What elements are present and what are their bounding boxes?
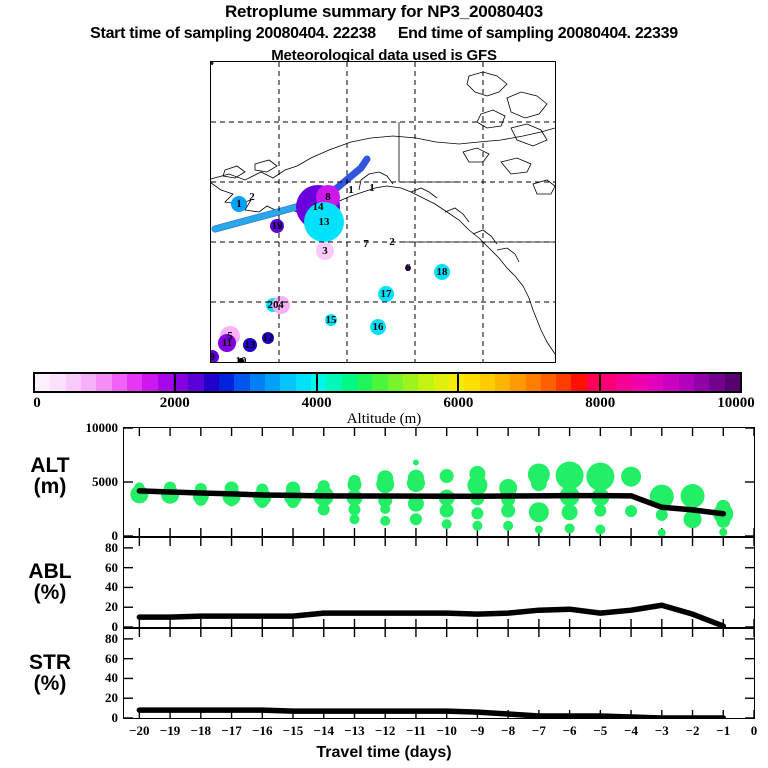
colorbar-segment xyxy=(35,374,50,391)
abl-plot-panel xyxy=(123,537,755,628)
colorbar-segment xyxy=(602,374,617,391)
y-tick-label: 20 xyxy=(58,599,118,615)
colorbar-segment xyxy=(234,374,249,391)
scatter-point xyxy=(501,504,515,518)
x-tick-label: −18 xyxy=(191,723,211,739)
plume-centroid-marker xyxy=(243,338,257,352)
colorbar-segment xyxy=(112,374,127,391)
colorbar-divider xyxy=(316,372,318,393)
colorbar-segment xyxy=(388,374,403,391)
scatter-point xyxy=(407,474,425,492)
plume-centroid-marker xyxy=(378,286,394,302)
xaxis-title: Travel time (days) xyxy=(0,744,768,762)
y-tick-label: 10000 xyxy=(58,420,118,436)
plume-centroid-marker xyxy=(231,196,247,212)
x-tick-label: −5 xyxy=(593,723,607,739)
plume-trajectory xyxy=(215,159,367,229)
colorbar-segment xyxy=(188,374,203,391)
scatter-point xyxy=(681,484,705,508)
scatter-point xyxy=(440,469,454,483)
plume-centroid-marker xyxy=(370,319,386,335)
abl-plot-graphic xyxy=(124,538,754,627)
y-tick-label: 80 xyxy=(58,631,118,647)
plume-centroid-markers xyxy=(211,185,450,362)
scatter-point xyxy=(376,475,394,493)
colorbar-segment xyxy=(709,374,724,391)
colorbar-segment xyxy=(556,374,571,391)
scatter-point xyxy=(556,462,584,490)
scatter-point xyxy=(227,496,237,506)
scatter-point xyxy=(472,521,482,531)
colorbar-segment xyxy=(342,374,357,391)
scatter-point xyxy=(621,467,641,487)
y-tick-label: 80 xyxy=(58,540,118,556)
scatter-point xyxy=(658,529,666,536)
plume-centroid-marker xyxy=(304,202,344,242)
colorbar-segment xyxy=(219,374,234,391)
y-tick-label: 40 xyxy=(58,579,118,595)
scatter-point xyxy=(442,519,452,529)
colorbar-gradient xyxy=(33,372,742,393)
colorbar-segment xyxy=(326,374,341,391)
scatter-point xyxy=(586,463,614,491)
x-tick-label: −11 xyxy=(406,723,426,739)
x-tick-label: −3 xyxy=(655,723,669,739)
colorbar-segment xyxy=(158,374,173,391)
colorbar-segment xyxy=(50,374,65,391)
colorbar-segment xyxy=(526,374,541,391)
scatter-point xyxy=(347,478,361,492)
colorbar-segment xyxy=(403,374,418,391)
scatter-point xyxy=(380,504,390,514)
page-title: Retroplume summary for NP3_20080403 xyxy=(0,2,768,22)
x-tick-label: −17 xyxy=(221,723,241,739)
colorbar-segment xyxy=(127,374,142,391)
plume-centroid-marker xyxy=(325,314,337,326)
colorbar-segment xyxy=(725,374,740,391)
colorbar-segment xyxy=(679,374,694,391)
colorbar-segment xyxy=(418,374,433,391)
y-tick-label: 0 xyxy=(58,710,118,726)
x-tick-label: −6 xyxy=(563,723,577,739)
scatter-point xyxy=(503,521,513,531)
colorbar-segment xyxy=(96,374,111,391)
scatter-point xyxy=(565,523,575,533)
x-tick-label: −8 xyxy=(501,723,515,739)
colorbar-segment xyxy=(280,374,295,391)
scatter-point xyxy=(529,502,549,522)
colorbar-divider xyxy=(457,372,459,393)
scatter-point xyxy=(380,516,390,526)
trend-line xyxy=(139,710,723,718)
scatter-point xyxy=(410,513,422,525)
colorbar-segment xyxy=(66,374,81,391)
plume-centroid-marker xyxy=(270,219,284,233)
x-tick-label: −12 xyxy=(375,723,395,739)
x-tick-label: −9 xyxy=(470,723,484,739)
scatter-point xyxy=(348,504,360,516)
scatter-point xyxy=(595,525,605,535)
x-tick-label: −13 xyxy=(344,723,364,739)
x-tick-label: −15 xyxy=(283,723,303,739)
alt-plot-panel xyxy=(123,427,755,537)
scatter-point xyxy=(562,504,578,520)
scatter-point xyxy=(256,496,268,508)
colorbar-segment xyxy=(663,374,678,391)
x-tick-label: 0 xyxy=(751,723,758,739)
scatter-point xyxy=(531,475,547,491)
retroplume-map: 1241481319311726181716152045111312910 xyxy=(210,61,556,363)
alt-plot-graphic xyxy=(124,428,754,536)
scatter-point xyxy=(471,507,483,519)
scatter-point xyxy=(440,504,454,518)
colorbar-segment xyxy=(633,374,648,391)
colorbar-segment xyxy=(142,374,157,391)
sampling-times: Start time of sampling 20080404. 22238En… xyxy=(0,25,768,43)
colorbar-tick-label: 4000 xyxy=(302,395,332,412)
x-tick-label: −7 xyxy=(532,723,546,739)
colorbar-tick-label: 2000 xyxy=(160,395,190,412)
scatter-point xyxy=(625,505,637,517)
y-tick-label: 20 xyxy=(58,690,118,706)
colorbar-segment xyxy=(250,374,265,391)
colorbar-segment xyxy=(357,374,372,391)
colorbar-segment xyxy=(204,374,219,391)
scatter-point xyxy=(413,460,419,466)
plume-centroid-marker xyxy=(218,334,236,352)
colorbar-tick-label: 8000 xyxy=(585,395,615,412)
colorbar-segment xyxy=(480,374,495,391)
colorbar-divider xyxy=(599,372,601,393)
colorbar-segment xyxy=(372,374,387,391)
str-plot-panel xyxy=(123,628,755,719)
x-tick-label: −19 xyxy=(160,723,180,739)
graticule xyxy=(211,62,555,362)
y-tick-label: 5000 xyxy=(58,474,118,490)
colorbar-segment xyxy=(311,374,326,391)
plume-centroid-marker xyxy=(316,242,334,260)
plume-centroid-marker xyxy=(238,358,244,362)
end-time-label: End time of sampling 20080404. 22339 xyxy=(398,25,678,42)
trend-line xyxy=(139,605,723,626)
altitude-colorbar xyxy=(33,372,742,393)
colorbar-segment xyxy=(265,374,280,391)
y-tick-label: 60 xyxy=(58,560,118,576)
x-tick-label: −14 xyxy=(314,723,334,739)
colorbar-segment xyxy=(495,374,510,391)
scatter-point xyxy=(719,528,727,536)
colorbar-segment xyxy=(694,374,709,391)
retroplume-summary-figure: Retroplume summary for NP3_20080403 Star… xyxy=(0,0,768,768)
map-graphic xyxy=(211,62,555,362)
x-tick-label: −16 xyxy=(252,723,272,739)
y-tick-label: 60 xyxy=(58,651,118,667)
colorbar-tick-label: 10000 xyxy=(717,395,755,412)
colorbar-segment xyxy=(510,374,525,391)
colorbar-tick-label: 6000 xyxy=(443,395,473,412)
colorbar-segment xyxy=(81,374,96,391)
colorbar-tick-label: 0 xyxy=(33,395,41,412)
colorbar-segment xyxy=(541,374,556,391)
start-time-label: Start time of sampling 20080404. 22238 xyxy=(90,25,376,42)
x-tick-label: −1 xyxy=(716,723,730,739)
x-tick-label: −10 xyxy=(436,723,456,739)
colorbar-segment xyxy=(464,374,479,391)
colorbar-segment xyxy=(571,374,586,391)
colorbar-segment xyxy=(648,374,663,391)
scatter-point xyxy=(594,505,606,517)
y-tick-label: 40 xyxy=(58,670,118,686)
plume-centroid-marker xyxy=(262,332,274,344)
x-tick-label: −20 xyxy=(129,723,149,739)
scatter-point xyxy=(349,514,359,524)
plume-centroid-marker xyxy=(434,264,450,280)
colorbar-segment xyxy=(434,374,449,391)
colorbar-segment xyxy=(296,374,311,391)
str-plot-graphic xyxy=(124,629,754,718)
scatter-point xyxy=(656,509,668,521)
scatter-point xyxy=(318,504,330,516)
colorbar-segment xyxy=(617,374,632,391)
plume-centroid-marker xyxy=(405,265,411,271)
x-tick-label: −4 xyxy=(624,723,638,739)
plume-centroid-marker xyxy=(272,296,290,314)
plume-centroid-marker xyxy=(211,350,219,362)
scatter-point xyxy=(535,526,543,534)
x-tick-label: −2 xyxy=(686,723,700,739)
colorbar-divider xyxy=(174,372,176,393)
